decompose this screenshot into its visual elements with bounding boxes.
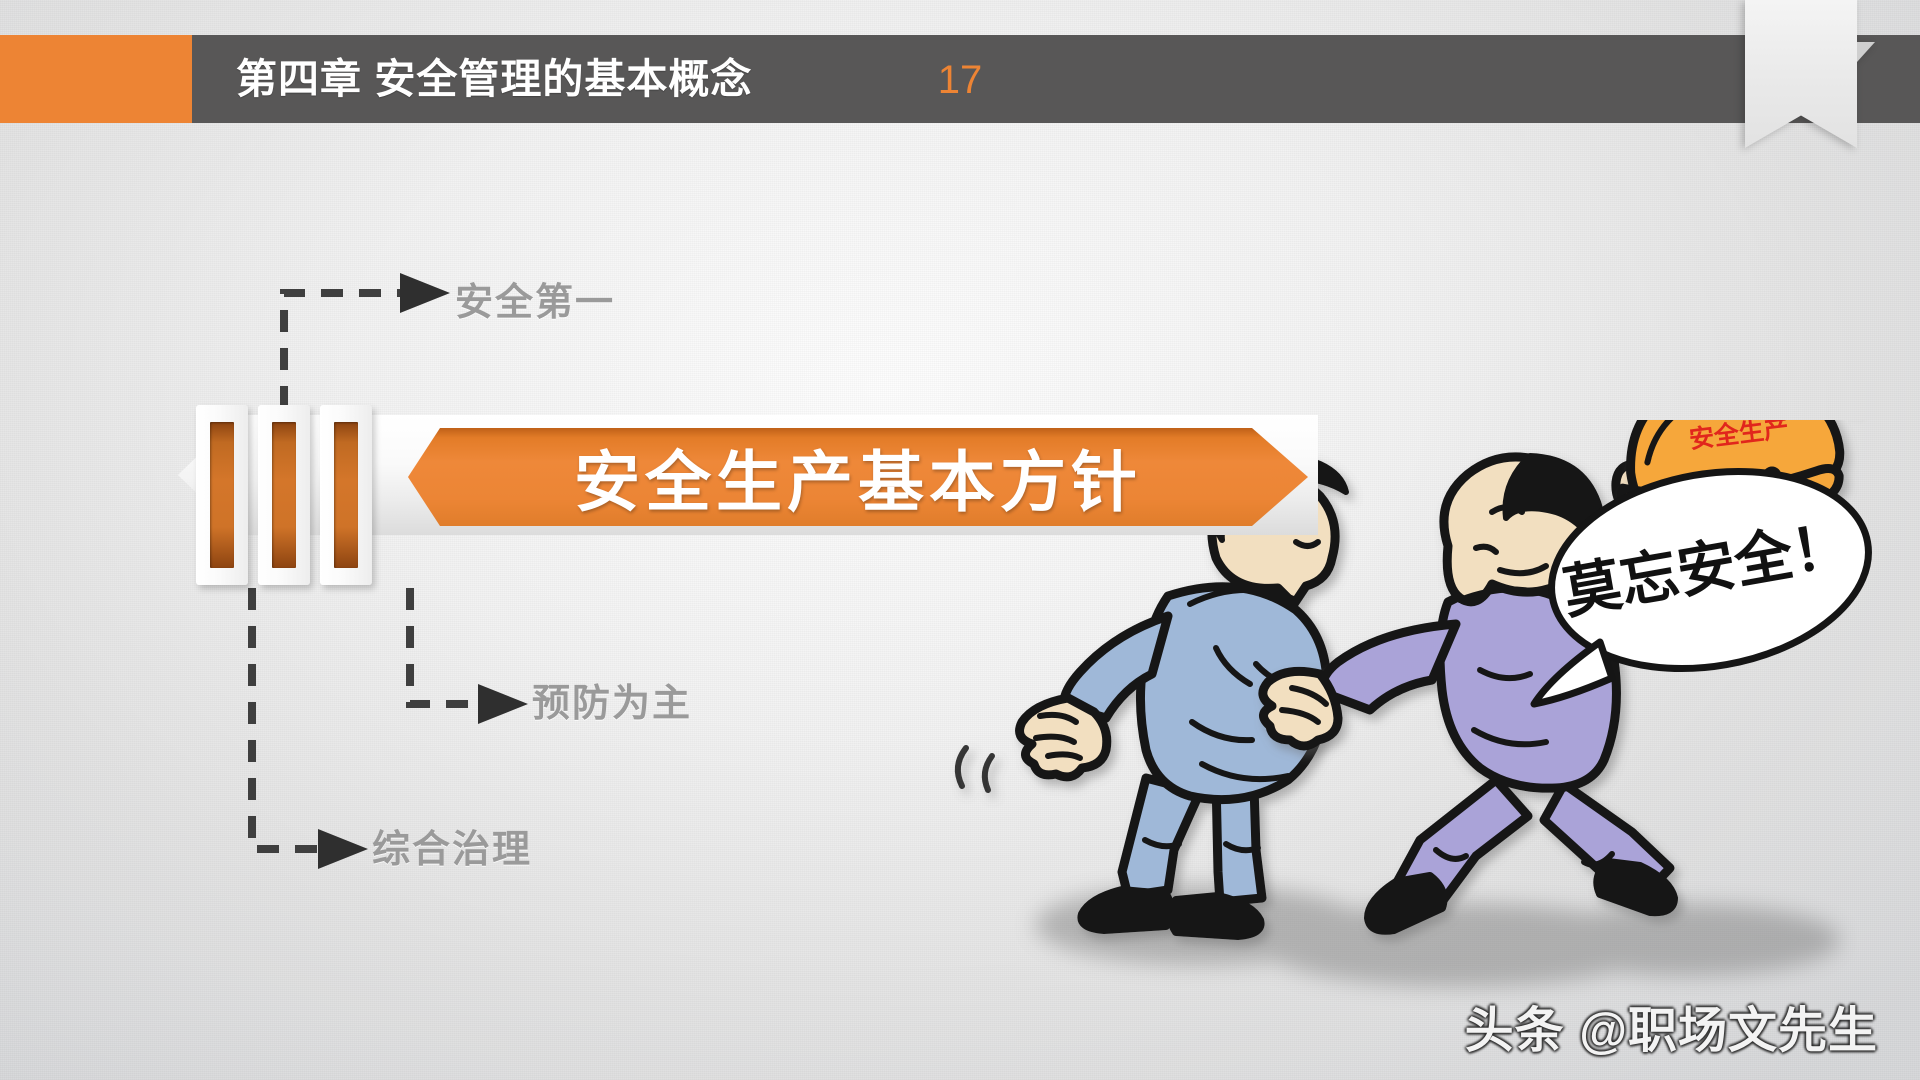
watermark: 头条 @职场文先生 xyxy=(1465,991,1878,1062)
branch-label-2: 预防为主 xyxy=(532,672,692,727)
arrow-head-1 xyxy=(400,273,450,313)
branch-label-1: 安全第一 xyxy=(455,271,615,326)
bar-tab-2[interactable] xyxy=(258,405,310,585)
arrow-head-2 xyxy=(478,684,528,724)
connector-path-2 xyxy=(410,588,478,704)
arrow-head-3 xyxy=(318,829,368,869)
bar-tab-3[interactable] xyxy=(320,405,372,585)
banner-label: 安全生产基本方针 xyxy=(408,428,1308,526)
page-number: 17 xyxy=(0,58,1920,103)
connector-path-1 xyxy=(284,293,400,408)
bar-tab-1-core xyxy=(210,422,234,568)
bar-tab-2-core xyxy=(272,422,296,568)
connector-path-3 xyxy=(252,588,318,849)
bar-tab-1[interactable] xyxy=(196,405,248,585)
branch-label-3: 综合治理 xyxy=(372,818,532,873)
bar-tab-3-core xyxy=(334,422,358,568)
slide-canvas: 第四章 安全管理的基本概念 17 安全生产基本方针 安全第一 预防为主 综合治理 xyxy=(0,0,1920,1080)
